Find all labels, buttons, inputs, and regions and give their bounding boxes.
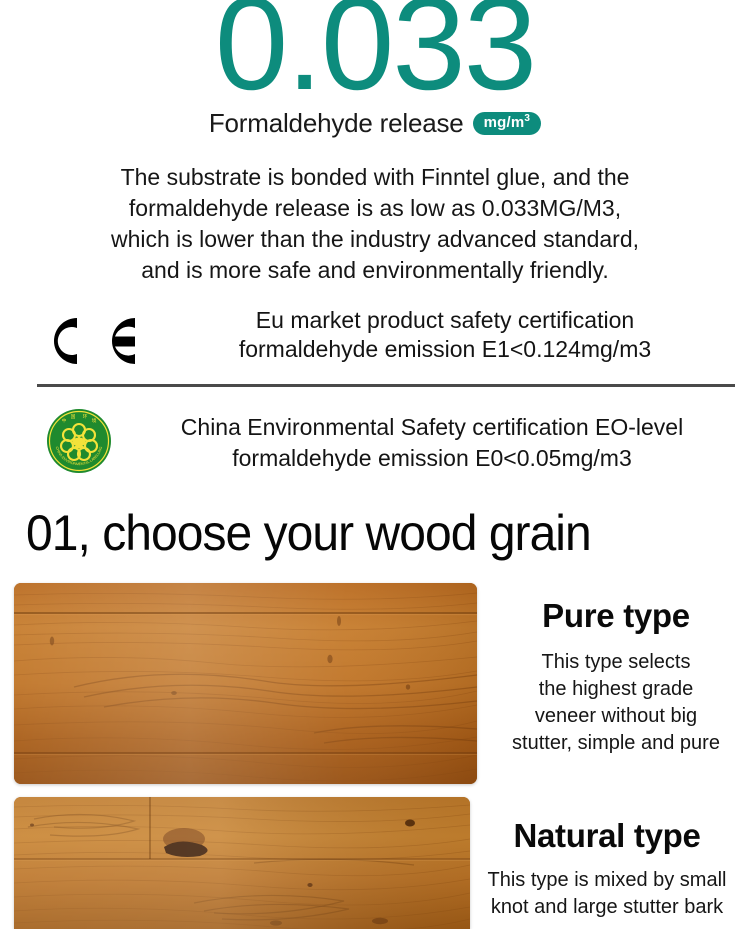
unit-badge: mg/m3 [473, 112, 542, 135]
description-line-2: formaldehyde release is as low as 0.033M… [40, 193, 710, 224]
svg-text:境: 境 [92, 417, 97, 424]
wood-type-pure-description: This type selects the highest grade vene… [487, 649, 745, 757]
pure-desc-line-1: This type selects [487, 649, 745, 676]
wood-type-natural: Natural type This type is mixed by small… [464, 818, 750, 921]
wood-image-pure [14, 583, 477, 784]
description-line-4: and is more safe and environmentally fri… [40, 255, 710, 286]
natural-desc-line-2: knot and large stutter bark [464, 894, 750, 921]
china-certification-text: China Environmental Safety certification… [118, 412, 746, 474]
formaldehyde-release-label: Formaldehyde release [209, 108, 464, 139]
description-line-3: which is lower than the industry advance… [40, 224, 710, 255]
wood-image-natural [14, 797, 470, 929]
wood-type-pure-title: Pure type [487, 598, 745, 635]
wood-type-pure: Pure type This type selects the highest … [487, 598, 745, 757]
wood-grain-texture-pure [14, 583, 477, 784]
section-heading-wood-grain: 01, choose your wood grain [26, 506, 591, 561]
certification-ce: Eu market product safety certification f… [0, 306, 750, 376]
pure-desc-line-3: veneer without big [487, 703, 745, 730]
china-line-1: China Environmental Safety certification… [118, 412, 746, 443]
ce-mark-icon [36, 312, 140, 370]
natural-desc-line-1: This type is mixed by small [464, 867, 750, 894]
pure-desc-line-2: the highest grade [487, 676, 745, 703]
ce-line-2: formaldehyde emission E1<0.124mg/m3 [150, 335, 740, 364]
certification-divider [37, 384, 735, 387]
formaldehyde-release-line: Formaldehyde release mg/m3 [0, 108, 750, 139]
pure-desc-line-4: stutter, simple and pure [487, 730, 745, 757]
svg-text:中: 中 [62, 417, 67, 424]
wood-type-natural-title: Natural type [464, 818, 750, 855]
china-environmental-label-icon: 中 国 环 境 CHINA ENVIRONMENTAL LABELLING [46, 408, 112, 474]
unit-exponent: 3 [524, 113, 530, 124]
china-line-2: formaldehyde emission E0<0.05mg/m3 [118, 443, 746, 474]
ce-certification-text: Eu market product safety certification f… [150, 306, 740, 364]
ce-line-1: Eu market product safety certification [150, 306, 740, 335]
wood-grain-texture-natural [14, 797, 470, 929]
certification-china: 中 国 环 境 CHINA ENVIRONMENTAL LABELLING Ch… [0, 408, 750, 484]
description-line-1: The substrate is bonded with Finntel glu… [40, 162, 710, 193]
unit-text: mg/m [484, 114, 525, 131]
formaldehyde-value: 0.033 [0, 0, 750, 110]
description-paragraph: The substrate is bonded with Finntel glu… [40, 162, 710, 286]
wood-type-natural-description: This type is mixed by small knot and lar… [464, 867, 750, 921]
